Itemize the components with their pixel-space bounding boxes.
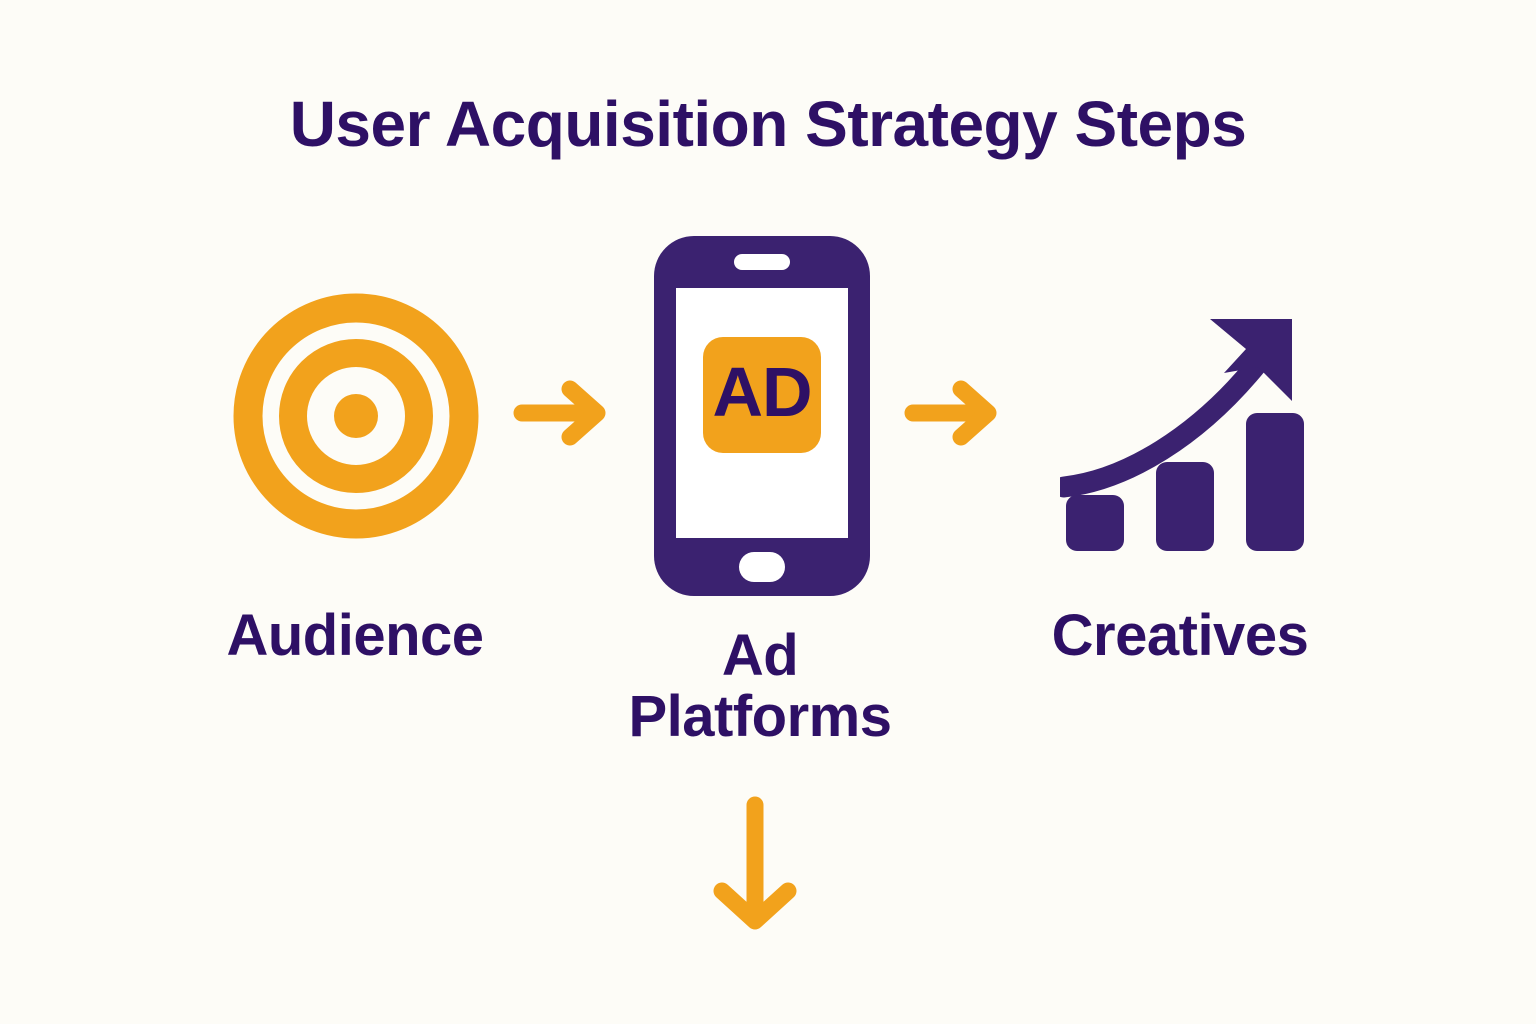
target-bullseye-icon — [233, 293, 479, 539]
page-title: User Acquisition Strategy Steps — [0, 92, 1536, 156]
diagram-canvas: User Acquisition Strategy Steps Audience — [0, 0, 1536, 1024]
chart-bar-2 — [1156, 462, 1214, 551]
arrow-right-icon — [903, 378, 999, 448]
step-label-creatives: Creatives — [980, 605, 1380, 666]
arrow-right-icon — [512, 378, 608, 448]
chart-bar-3 — [1246, 413, 1304, 551]
ad-tile-text: AD — [712, 353, 811, 431]
mobile-phone-ad-icon: AD — [650, 232, 874, 600]
chart-bar-1 — [1066, 495, 1124, 551]
step-label-ad-platforms: Ad Platforms — [555, 625, 965, 748]
step-label-audience: Audience — [150, 605, 560, 666]
growth-bar-chart-arrow-icon — [1060, 315, 1306, 555]
arrow-down-icon — [700, 795, 810, 935]
